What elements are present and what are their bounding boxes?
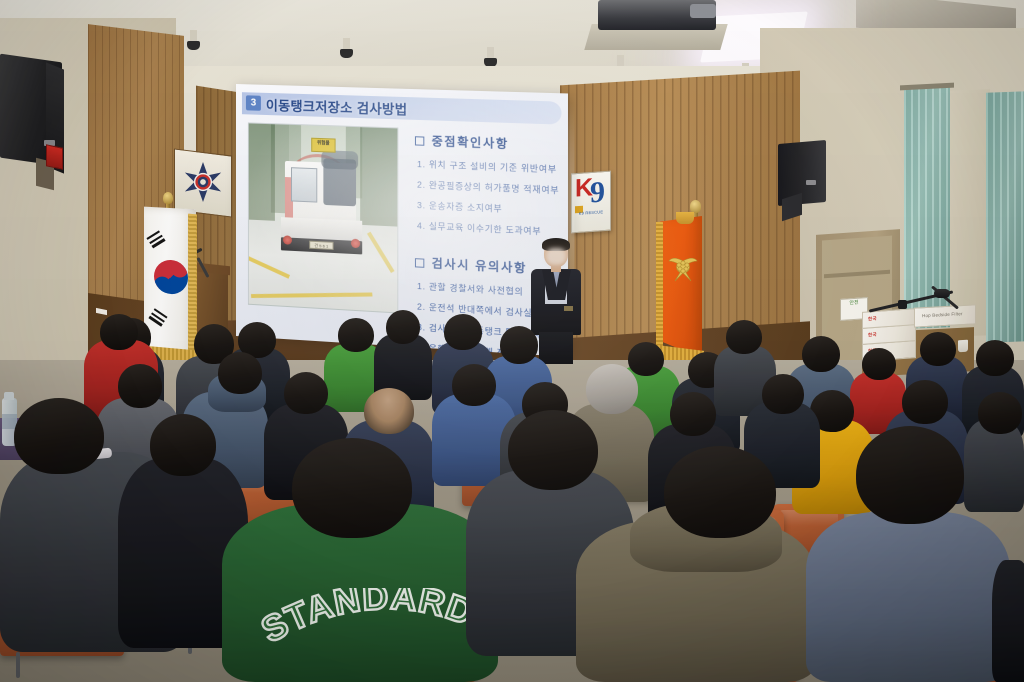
person-head (802, 336, 840, 372)
person-head (14, 398, 104, 474)
person-head (726, 320, 762, 354)
person-torso (992, 560, 1024, 682)
truck-hose (323, 158, 356, 206)
person-head (670, 392, 716, 436)
person-head (862, 348, 896, 380)
truck-tail-light-icon (283, 235, 292, 245)
person-head (628, 342, 664, 376)
person-head (902, 380, 948, 424)
slide-bullet: 1. 위치 구조 설비의 기준 위반여부 (417, 158, 559, 176)
slide-bullet: 3. 운송자증 소지여부 (417, 199, 559, 218)
projector-lens-icon (690, 4, 716, 18)
slide-heading-text: 검사시 유의사항 (432, 255, 527, 276)
presenter-pocket-badge (564, 306, 573, 311)
person-head-bald (364, 388, 414, 434)
orange-ceremonial-flag (660, 216, 702, 358)
bottle-cap (4, 392, 14, 400)
slide-heading-text: 중점확인사항 (432, 133, 509, 152)
seminar-room-photo: K 9 K9 RESCUE 3 이동탱크저장소 검사방법 (0, 0, 1024, 682)
presenter-trousers (539, 332, 573, 364)
k9-sign-number: 9 (590, 177, 605, 208)
person-head (976, 340, 1014, 376)
person-head (292, 438, 412, 538)
person-head (762, 374, 804, 414)
curtain-right-panel[interactable] (986, 91, 1024, 342)
slide-section-badge: 3 (246, 95, 261, 111)
checkbox-icon (415, 136, 424, 146)
person-head (284, 372, 328, 414)
person-head (856, 426, 964, 524)
person-head (500, 326, 538, 364)
chair-leg (16, 652, 20, 678)
trigram-icon (148, 308, 168, 328)
sprinkler-icon (487, 47, 494, 60)
window-recess (946, 89, 990, 337)
taeguk-lower-circle (154, 276, 171, 294)
person-head (444, 314, 482, 350)
fire-star-emblem-icon (182, 160, 224, 204)
person-torso-blue-puffer (806, 512, 1010, 682)
person-head (118, 364, 162, 408)
speaker-logo-badge (806, 180, 816, 185)
paper-cup (958, 340, 968, 353)
person-head (978, 392, 1022, 434)
person-head (100, 314, 138, 350)
microphone-stand-clamp (898, 300, 907, 309)
trigram-icon (146, 230, 166, 250)
person-head (664, 446, 776, 538)
sprinkler-icon (190, 30, 197, 43)
hazard-material-placard: 위험물 (311, 138, 335, 153)
slide-section-heading-1: 중점확인사항 (415, 132, 559, 154)
flag-tassel (676, 212, 694, 224)
person-torso (964, 420, 1024, 512)
fire-alarm-pull-station-icon[interactable] (46, 144, 63, 170)
box-marking: 한국 (868, 332, 877, 339)
truck-control-panel (291, 167, 317, 202)
box-marking: 한국 (868, 316, 877, 323)
person-head (452, 364, 496, 406)
person-head (150, 414, 216, 476)
truck-license-plate: 건 5 6 1 (309, 241, 333, 250)
slide-bullet: 2. 완공필증상의 허가품명 적재여부 (417, 178, 559, 196)
person-head (508, 410, 598, 490)
presenter-face-blurred (546, 248, 566, 265)
taeguk-upper-circle (171, 260, 188, 278)
person-head (920, 332, 956, 366)
person-head (338, 318, 374, 352)
right-wall-speaker-icon (778, 140, 826, 206)
person-head (218, 352, 262, 394)
sprinkler-icon (343, 38, 350, 51)
slide-photo-tank-truck: 위험물 건 5 6 1 (248, 122, 398, 313)
flag-gold-emblem-icon (668, 250, 698, 284)
flag-finial-icon (163, 192, 173, 204)
taeguk-symbol-icon (154, 259, 188, 295)
slide-bullet: 4. 실무교육 이수기한 도과여부 (417, 219, 559, 238)
checkbox-icon (415, 258, 424, 268)
person-head-grey-hair (586, 364, 638, 414)
microphone-icon[interactable] (934, 289, 950, 298)
truck-tail-light-icon (351, 239, 360, 249)
person-head (386, 310, 420, 344)
flag-fringe (656, 222, 663, 354)
